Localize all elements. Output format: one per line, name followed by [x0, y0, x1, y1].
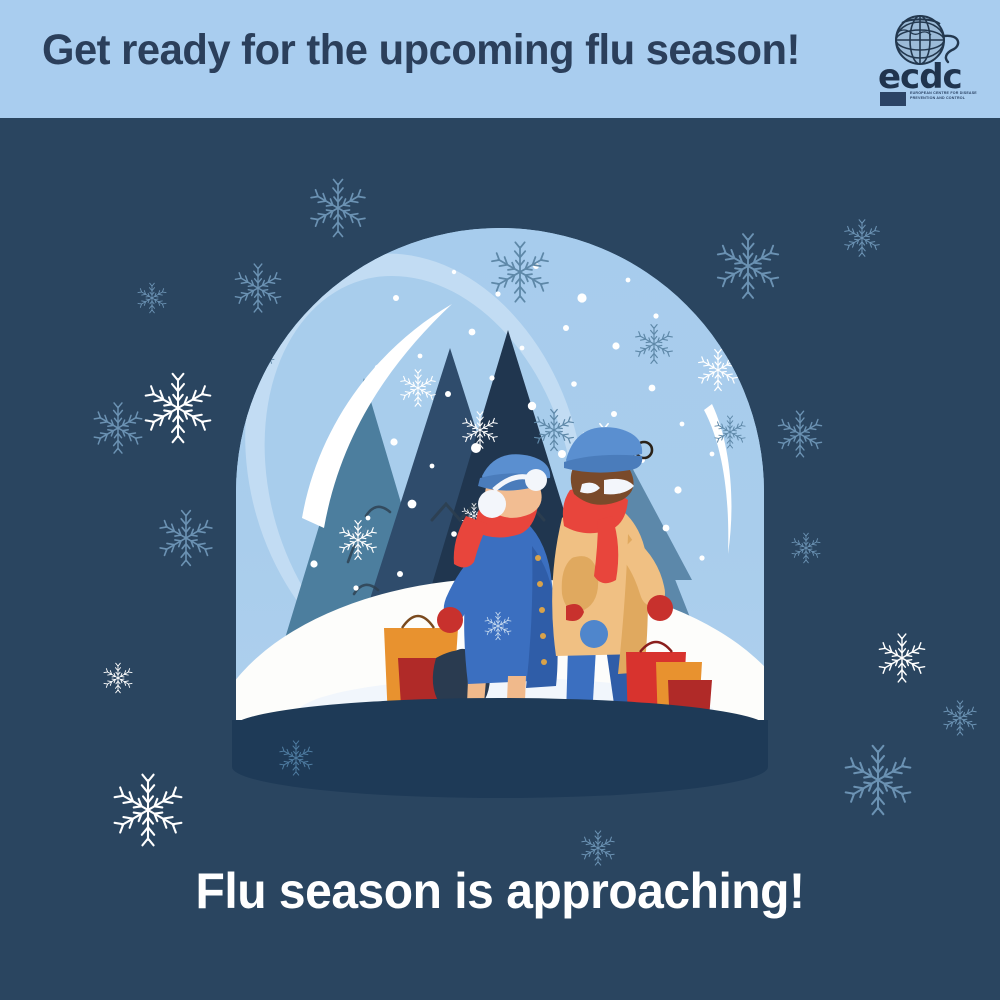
- mitten-right-person-b: [580, 620, 608, 648]
- ecdc-logo: ecdc European Centre for Disease Prevent…: [872, 16, 980, 108]
- ecdc-tagline: European Centre for Disease Prevention a…: [910, 91, 980, 101]
- ecdc-tag-square: [880, 92, 906, 106]
- shoppers-group: [236, 228, 764, 748]
- poster-canvas: Get ready for the upcoming flu season! e…: [0, 0, 1000, 1000]
- caption-text: Flu season is approaching!: [20, 862, 980, 920]
- glass-dome: [236, 228, 764, 748]
- mitten-right-person-a: [647, 595, 673, 621]
- snow-globe: [236, 228, 764, 788]
- page-title: Get ready for the upcoming flu season!: [42, 28, 818, 73]
- mitten-left-person: [437, 607, 463, 633]
- base-snowflake: [266, 728, 326, 788]
- ecdc-wordmark: ecdc: [878, 60, 978, 94]
